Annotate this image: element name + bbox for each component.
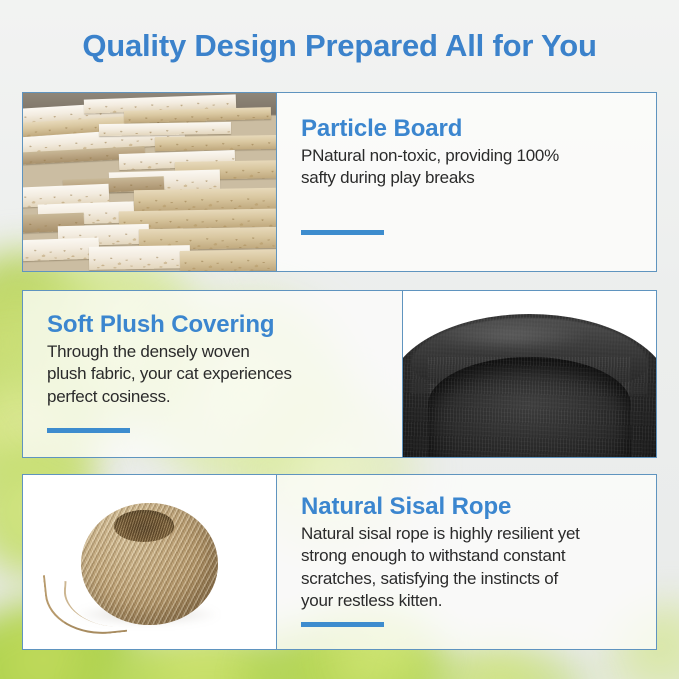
accent-bar	[301, 622, 384, 627]
page-title: Quality Design Prepared All for You	[0, 28, 679, 64]
feature-text-soft-plush-covering: Soft Plush Covering Through the densely …	[23, 291, 403, 457]
sisal-rope-ball-icon	[23, 475, 276, 649]
feature-card-natural-sisal-rope: Natural Sisal Rope Natural sisal rope is…	[22, 474, 657, 650]
accent-bar	[301, 230, 384, 235]
card-heading-soft-plush-covering: Soft Plush Covering	[47, 311, 378, 339]
accent-bar	[47, 428, 130, 433]
feature-image-particle-board	[23, 93, 276, 271]
card-heading-particle-board: Particle Board	[301, 115, 632, 143]
feature-text-natural-sisal-rope: Natural Sisal Rope Natural sisal rope is…	[276, 475, 656, 649]
card-text-natural-sisal-rope: Natural sisal rope is highly resilient y…	[301, 523, 632, 611]
feature-image-natural-sisal-rope	[23, 475, 276, 649]
card-heading-natural-sisal-rope: Natural Sisal Rope	[301, 493, 632, 521]
feature-card-soft-plush-covering: Soft Plush Covering Through the densely …	[22, 290, 657, 458]
foliage-bokeh-icon	[400, 645, 600, 679]
feature-card-particle-board: Particle Board PNatural non-toxic, provi…	[22, 92, 657, 272]
plush-fur-texture	[428, 357, 630, 457]
feature-text-particle-board: Particle Board PNatural non-toxic, provi…	[276, 93, 656, 271]
product-feature-infographic: Quality Design Prepared All for You	[0, 0, 679, 679]
card-text-soft-plush-covering: Through the densely woven plush fabric, …	[47, 341, 378, 407]
plush-pet-bed-icon	[403, 291, 656, 457]
plush-highlight	[433, 321, 590, 351]
particle-board-stack-icon	[23, 93, 276, 271]
rope-center-hole	[114, 510, 174, 542]
card-text-particle-board: PNatural non-toxic, providing 100% safty…	[301, 145, 632, 189]
plush-bed-interior	[428, 357, 630, 457]
feature-image-soft-plush-covering	[403, 291, 656, 457]
